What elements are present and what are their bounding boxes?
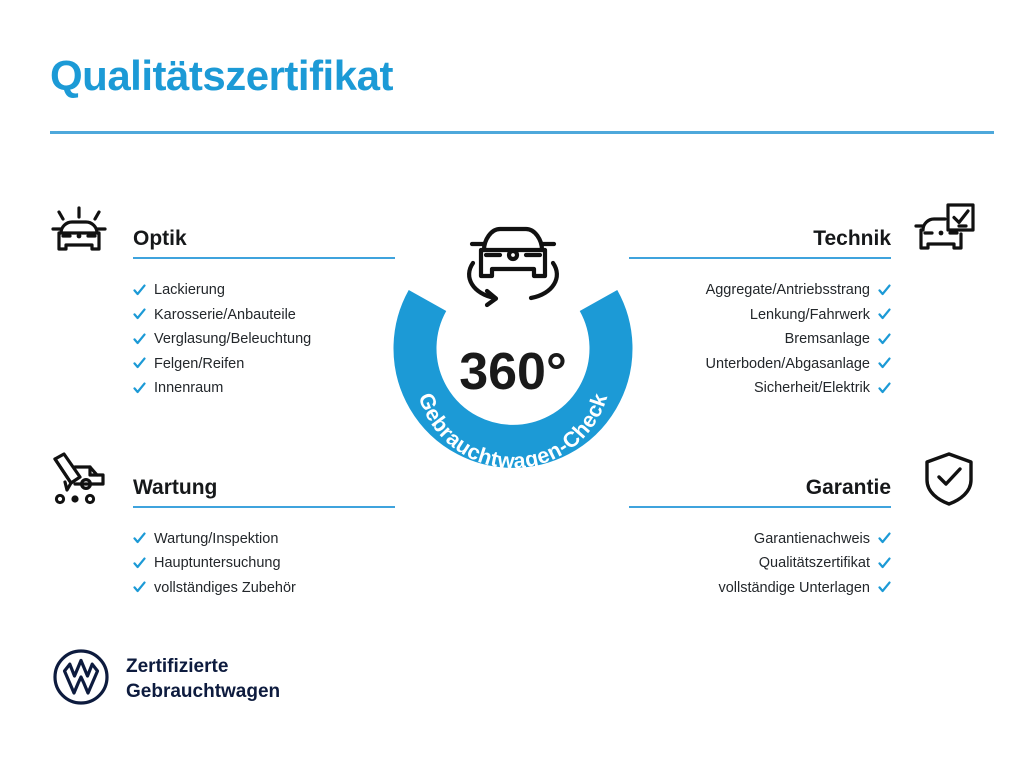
list-item-label: Bremsanlage — [785, 332, 870, 347]
list-item: vollständige Unterlagen — [629, 576, 891, 601]
check-icon — [133, 284, 146, 297]
list-item: Aggregate/Antriebsstrang — [629, 278, 891, 303]
list-item: vollständiges Zubehör — [133, 576, 395, 601]
section-wartung: Wartung Wartung/Inspektion Hauptuntersuc… — [45, 449, 395, 601]
check-icon — [878, 532, 891, 545]
section-garantie: Garantie Garantienachweis Qualitätszerti… — [629, 449, 979, 601]
list-item-label: Garantienachweis — [754, 532, 870, 547]
section-technik: Technik Aggregate/Antriebsstrang Lenkung… — [629, 200, 979, 401]
check-icon — [878, 308, 891, 321]
vw-certified-line1: Zertifizierte — [126, 655, 280, 679]
check-icon — [133, 581, 146, 594]
section-garantie-header: Garantie — [629, 449, 979, 517]
list-item-label: Unterboden/Abgasanlage — [706, 357, 870, 372]
section-optik-list: Lackierung Karosserie/Anbauteile Verglas… — [45, 268, 395, 401]
list-item-label: Aggregate/Antriebsstrang — [706, 283, 870, 298]
list-item-label: Verglasung/Beleuchtung — [154, 332, 311, 347]
section-wartung-header: Wartung — [45, 449, 395, 517]
list-item-label: Innenraum — [154, 381, 223, 396]
page-title: Qualitätszertifikat — [50, 52, 393, 100]
list-item-label: Karosserie/Anbauteile — [154, 308, 296, 323]
check-icon — [133, 532, 146, 545]
list-item: Unterboden/Abgasanlage — [629, 352, 891, 377]
left-column: Optik Lackierung Karosserie/Anbauteile V… — [45, 200, 395, 600]
section-wartung-divider — [133, 506, 395, 508]
list-item: Garantienachweis — [629, 527, 891, 552]
section-technik-header: Technik — [629, 200, 979, 268]
vw-certified-lockup: Zertifizierte Gebrauchtwagen — [52, 648, 280, 711]
list-item: Wartung/Inspektion — [133, 527, 395, 552]
certificate-page: Qualitätszertifikat — [0, 0, 1024, 768]
section-wartung-title: Wartung — [133, 476, 217, 500]
list-item-label: Wartung/Inspektion — [154, 532, 278, 547]
check-icon — [878, 357, 891, 370]
list-item: Qualitätszertifikat — [629, 551, 891, 576]
vw-certified-line2: Gebrauchtwagen — [126, 680, 280, 704]
list-item: Hauptuntersuchung — [133, 551, 395, 576]
section-technik-title: Technik — [813, 227, 891, 251]
list-item-label: vollständige Unterlagen — [718, 581, 870, 596]
section-garantie-title: Garantie — [806, 476, 891, 500]
vw-certified-text: Zertifizierte Gebrauchtwagen — [126, 655, 280, 704]
list-item: Sicherheit/Elektrik — [629, 376, 891, 401]
list-item: Lenkung/Fahrwerk — [629, 303, 891, 328]
car-front-lights-icon — [45, 200, 113, 260]
list-item-label: Hauptuntersuchung — [154, 556, 281, 571]
check-icon — [878, 333, 891, 346]
vw-logo — [52, 648, 110, 711]
section-optik: Optik Lackierung Karosserie/Anbauteile V… — [45, 200, 395, 401]
section-technik-list: Aggregate/Antriebsstrang Lenkung/Fahrwer… — [629, 268, 979, 401]
list-item: Felgen/Reifen — [133, 352, 395, 377]
section-optik-title: Optik — [133, 227, 187, 251]
section-technik-divider — [629, 257, 891, 259]
list-item-label: vollständiges Zubehör — [154, 581, 296, 596]
check-icon — [133, 557, 146, 570]
check-icon — [133, 308, 146, 321]
check-icon — [133, 357, 146, 370]
shield-check-icon — [919, 449, 979, 509]
list-item-label: Lackierung — [154, 283, 225, 298]
section-optik-header: Optik — [45, 200, 395, 268]
pen-car-service-icon — [45, 449, 113, 509]
list-item: Lackierung — [133, 278, 395, 303]
list-item-label: Lenkung/Fahrwerk — [750, 308, 870, 323]
list-item: Verglasung/Beleuchtung — [133, 327, 395, 352]
car-rotation-360-icon — [469, 229, 557, 305]
list-item: Bremsanlage — [629, 327, 891, 352]
check-icon — [878, 557, 891, 570]
list-item: Innenraum — [133, 376, 395, 401]
check-icon — [878, 581, 891, 594]
car-front-checkbox-icon — [911, 200, 979, 260]
list-item: Karosserie/Anbauteile — [133, 303, 395, 328]
section-garantie-list: Garantienachweis Qualitätszertifikat vol… — [629, 517, 979, 601]
right-column: Technik Aggregate/Antriebsstrang Lenkung… — [629, 200, 979, 600]
badge-center-label: 360° — [459, 343, 567, 401]
list-item-label: Felgen/Reifen — [154, 357, 244, 372]
section-garantie-divider — [629, 506, 891, 508]
title-divider — [50, 131, 994, 134]
check-icon — [878, 284, 891, 297]
check-icon — [878, 382, 891, 395]
section-optik-divider — [133, 257, 395, 259]
list-item-label: Sicherheit/Elektrik — [754, 381, 870, 396]
badge-360-check: Gebrauchtwagen-Check — [382, 195, 644, 495]
check-icon — [133, 382, 146, 395]
section-wartung-list: Wartung/Inspektion Hauptuntersuchung vol… — [45, 517, 395, 601]
list-item-label: Qualitätszertifikat — [759, 556, 870, 571]
check-icon — [133, 333, 146, 346]
